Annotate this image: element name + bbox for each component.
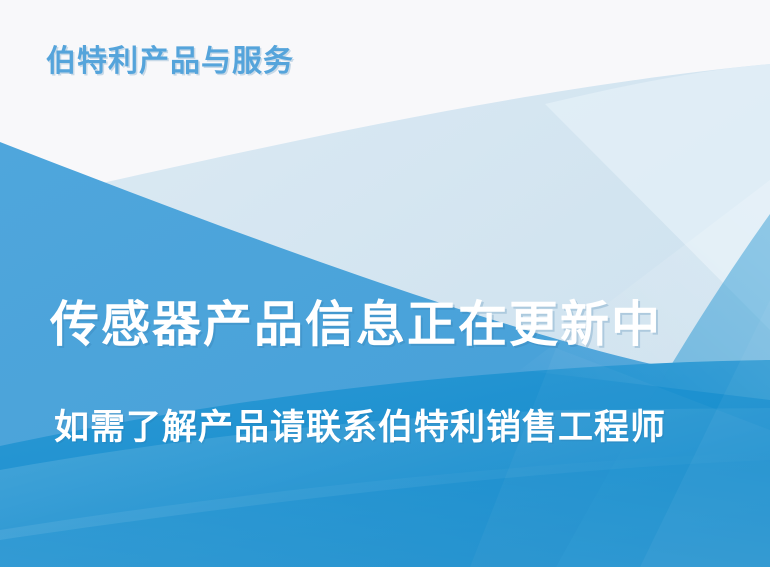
brand-title: 伯特利产品与服务	[46, 44, 294, 80]
product-service-banner: 伯特利产品与服务 传感器产品信息正在更新中 如需了解产品请联系伯特利销售工程师	[0, 0, 770, 567]
decorative-background-graphic	[0, 0, 770, 567]
headline-primary: 传感器产品信息正在更新中	[50, 296, 662, 354]
headline-secondary: 如需了解产品请联系伯特利销售工程师	[54, 406, 666, 450]
